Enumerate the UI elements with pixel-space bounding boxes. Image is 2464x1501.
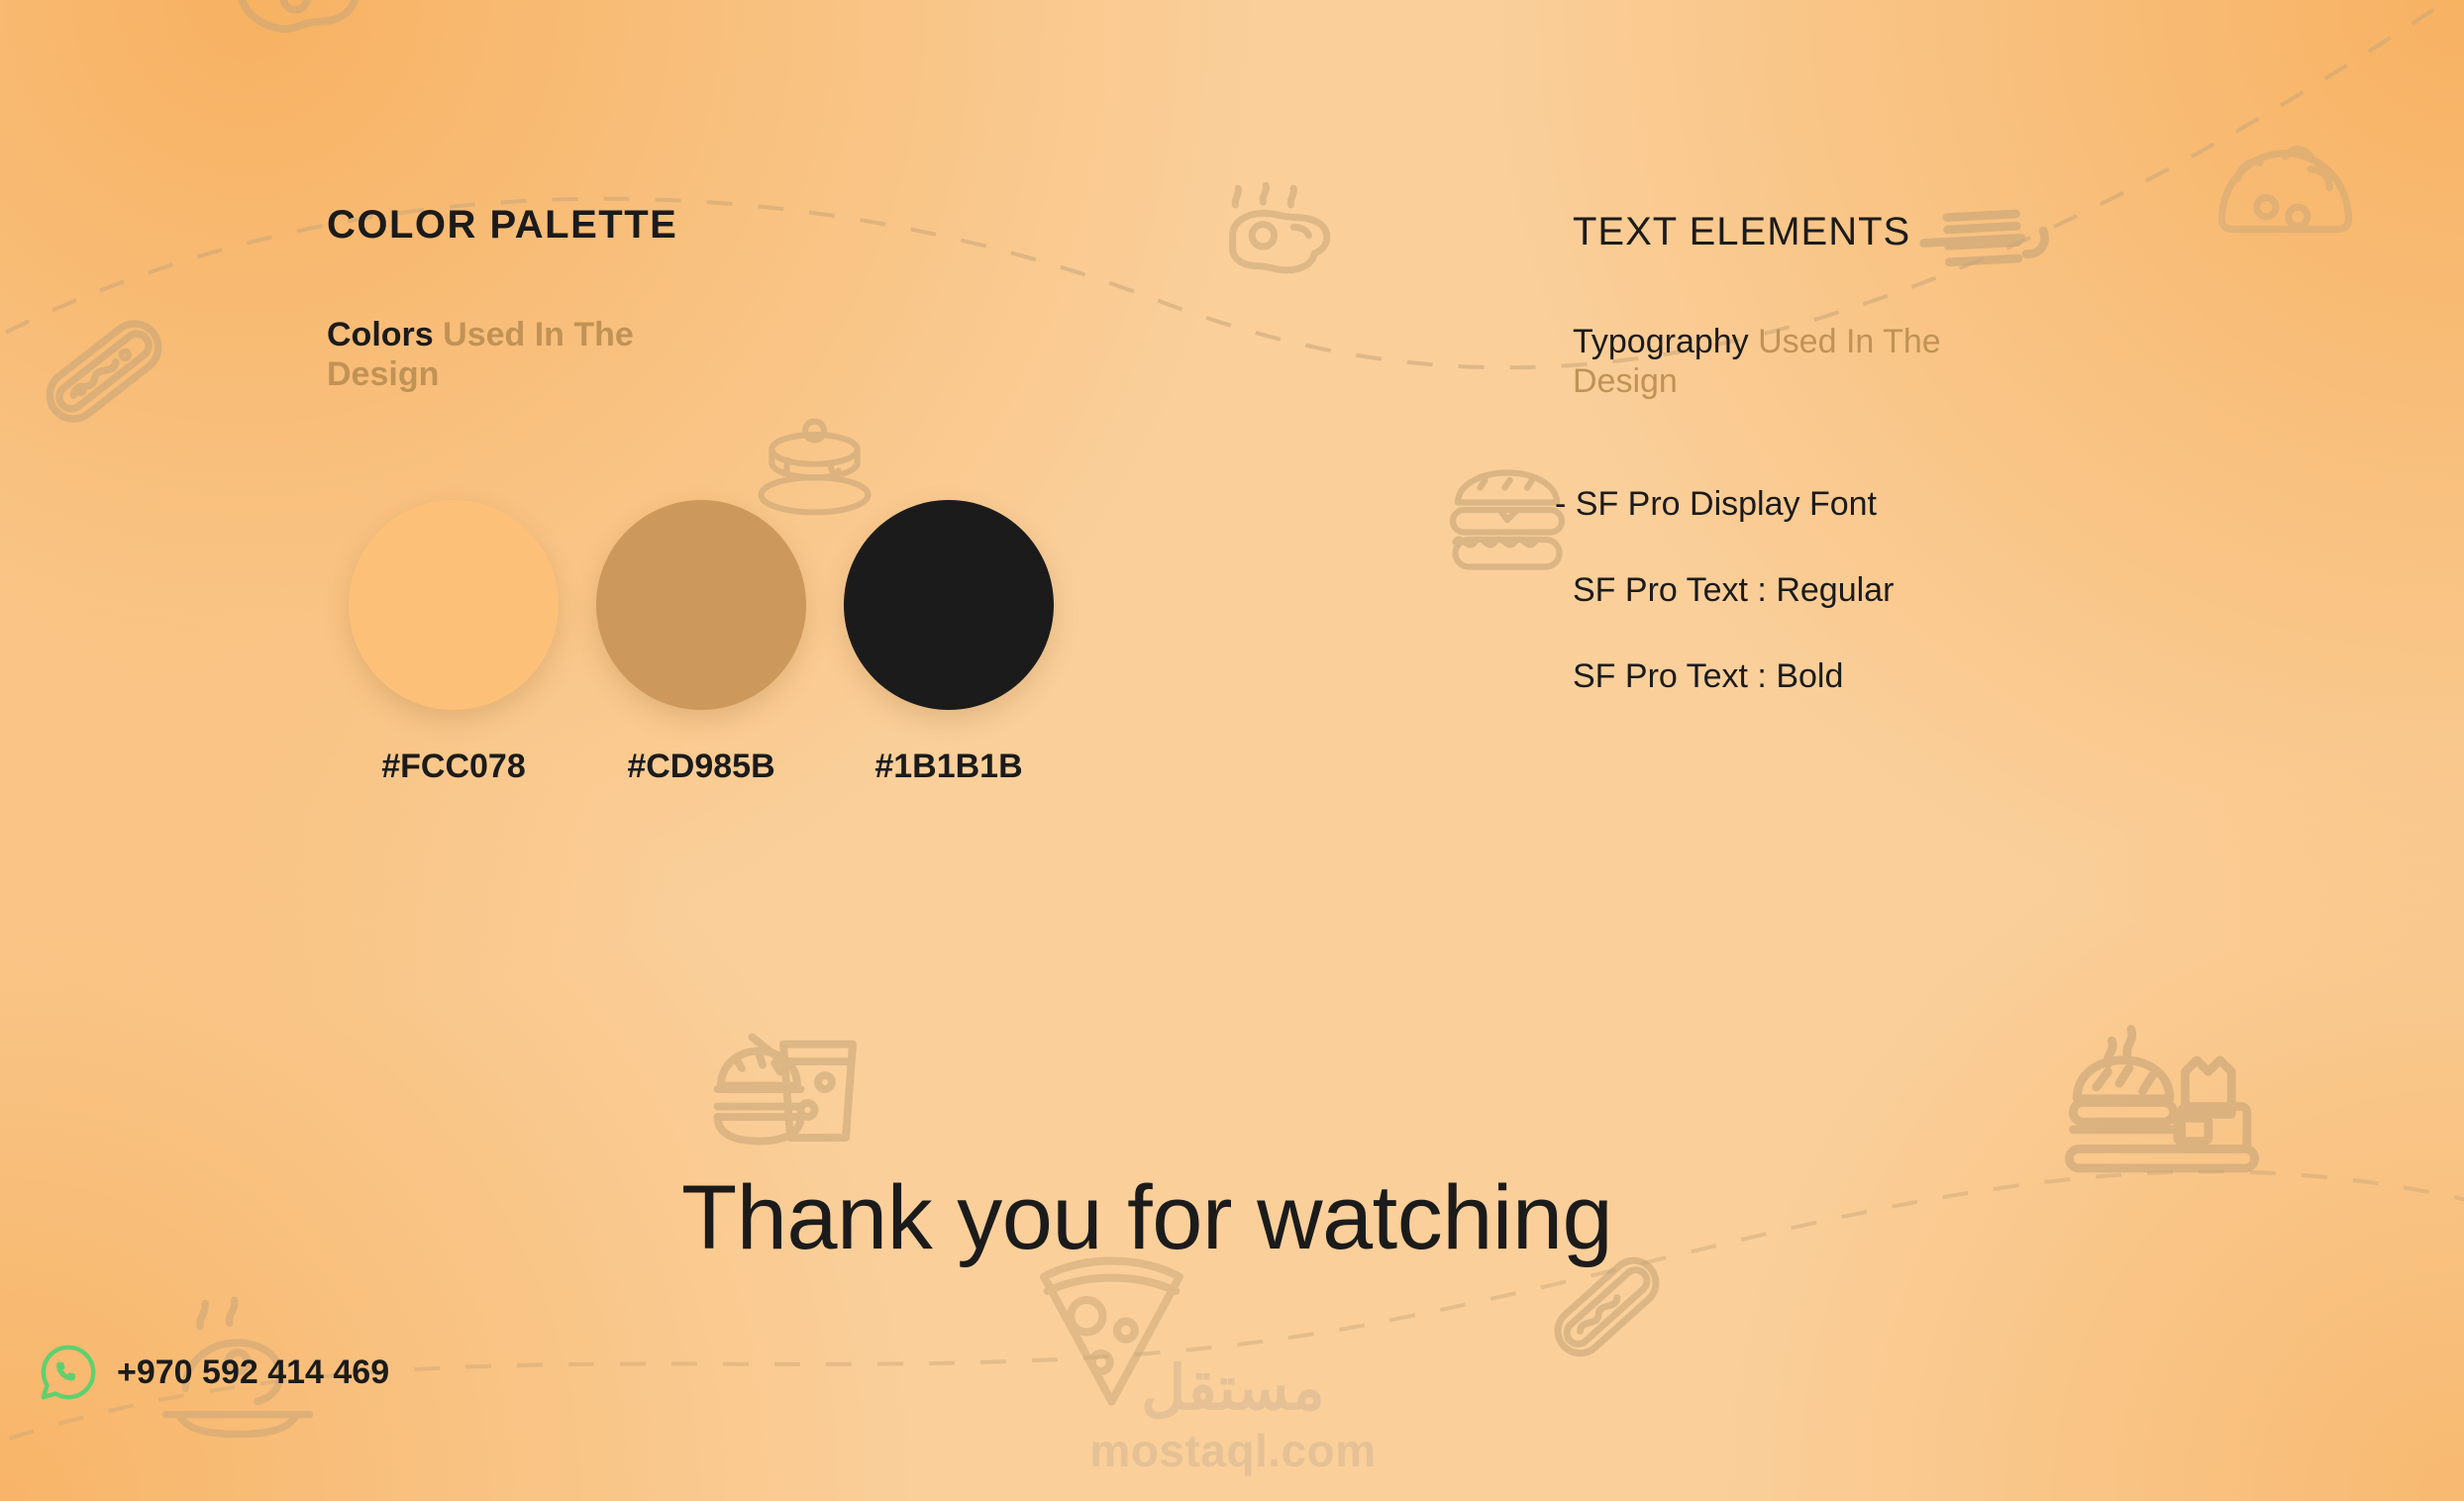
swatch-circle-3[interactable]: [844, 500, 1054, 710]
typography-list-item: SF Pro Text : Bold: [1555, 657, 1894, 696]
swatch-circle-1[interactable]: [349, 500, 559, 710]
typography-label-3: SF Pro Text : Bold: [1573, 657, 1843, 695]
whatsapp-icon[interactable]: [38, 1342, 99, 1403]
color-subtitle-strong: Colors: [327, 316, 434, 353]
watermark-latin: mostaql.com: [1070, 1426, 1396, 1476]
mostaql-watermark: مستقل mostaql.com: [1070, 1358, 1396, 1476]
text-elements-heading: TEXT ELEMENTS: [1573, 210, 1910, 254]
typography-list-item: SF Pro Text : Regular: [1555, 571, 1894, 610]
color-palette-heading: COLOR PALETTE: [327, 203, 677, 248]
phone-number[interactable]: +970 592 414 469: [117, 1353, 389, 1392]
swatch-circle-2[interactable]: [596, 500, 806, 710]
swatch-hex-label-3: #1B1B1B: [874, 748, 1022, 786]
swatch-hex-label-2: #CD985B: [627, 748, 774, 786]
typography-bullet-1: -: [1555, 485, 1566, 523]
color-palette-section: COLOR PALETTE: [327, 203, 677, 248]
swatch-item[interactable]: #CD985B: [596, 500, 806, 786]
slide-canvas: COLOR PALETTE Colors Used In The Design …: [0, 0, 2464, 1501]
color-swatch-row: #FCC078 #CD985B #1B1B1B: [349, 500, 1054, 786]
text-elements-section: TEXT ELEMENTS: [1573, 210, 1910, 254]
typography-label-1: SF Pro Display Font: [1576, 485, 1877, 523]
thank-you-text: Thank you for watching: [681, 1166, 1612, 1270]
color-palette-subtitle: Colors Used In The Design: [327, 315, 763, 394]
swatch-item[interactable]: #1B1B1B: [844, 500, 1054, 786]
contact-block[interactable]: +970 592 414 469: [38, 1342, 389, 1403]
typography-list: - SF Pro Display Font SF Pro Text : Regu…: [1555, 485, 1894, 696]
type-subtitle-strong: Typography: [1573, 323, 1749, 360]
typography-label-2: SF Pro Text : Regular: [1573, 571, 1894, 609]
swatch-item[interactable]: #FCC078: [349, 500, 559, 786]
text-elements-subtitle: Typography Used In The Design: [1573, 322, 2127, 401]
watermark-arabic: مستقل: [1070, 1358, 1396, 1420]
typography-list-item: - SF Pro Display Font: [1555, 485, 1894, 524]
swatch-hex-label-1: #FCC078: [381, 748, 526, 786]
